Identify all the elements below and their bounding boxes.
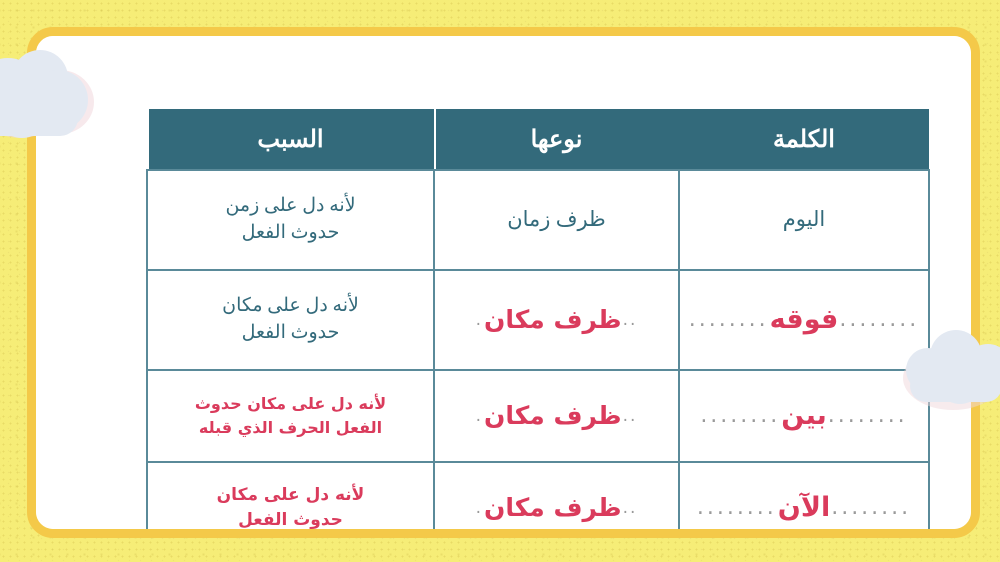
answer-reason-line: لأنه دل على مكان <box>154 483 427 509</box>
table-row: اليومظرف زمانلأنه دل على زمنحدوث الفعل <box>147 170 929 270</box>
column-header-reason: السبب <box>147 109 434 170</box>
given-word: اليوم <box>783 207 825 231</box>
given-reason-line: لأنه دل على زمن <box>154 193 427 220</box>
blank-dots-leading: ........ <box>831 492 911 523</box>
cell-reason: لأنه دل على مكانحدوث الفعل <box>147 270 434 370</box>
cell-reason: لأنه دل على مكان حدوثالفعل الحرف الذي قب… <box>147 370 434 462</box>
answer-type: ظرف مكان <box>484 490 622 526</box>
answer-type: ظرف مكان <box>484 302 622 338</box>
blank-dots-trailing: ........ <box>697 492 777 523</box>
given-reason-line: لأنه دل على مكان <box>154 293 427 320</box>
table-body: اليومظرف زمانلأنه دل على زمنحدوث الفعل..… <box>147 170 929 529</box>
content-card: الكلمة نوعها السبب اليومظرف زمانلأنه دل … <box>27 27 980 538</box>
table-row: ........فوقه..........ظرف مكان.لأنه دل ع… <box>147 270 929 370</box>
cell-type: ..ظرف مكان. <box>434 370 679 462</box>
column-header-type: نوعها <box>434 109 679 170</box>
answer-reason-line: لأنه دل على مكان حدوث <box>154 392 427 416</box>
blank-dots-leading: .. <box>623 404 638 428</box>
blank-dots-trailing: . <box>476 404 483 428</box>
answer-reason-line: حدوث الفعل <box>154 508 427 529</box>
blank-dots-trailing: . <box>476 308 483 332</box>
blank-dots-leading: ........ <box>828 400 908 431</box>
cell-word: ........فوقه........ <box>679 270 929 370</box>
cell-type: ..ظرف مكان. <box>434 270 679 370</box>
column-header-word: الكلمة <box>679 109 929 170</box>
cell-type: ظرف زمان <box>434 170 679 270</box>
blank-dots-leading: .. <box>623 308 638 332</box>
given-reason-line: حدوث الفعل <box>154 220 427 247</box>
blank-dots-trailing: ........ <box>700 400 780 431</box>
table-header-row: الكلمة نوعها السبب <box>147 109 929 170</box>
cell-word: ........بين........ <box>679 370 929 462</box>
table-row: ........الآن..........ظرف مكان.لأنه دل ع… <box>147 462 929 529</box>
given-reason-line: حدوث الفعل <box>154 320 427 347</box>
vocab-table: الكلمة نوعها السبب اليومظرف زمانلأنه دل … <box>146 109 930 529</box>
answer-type: ظرف مكان <box>484 398 622 434</box>
given-type: ظرف زمان <box>507 207 606 231</box>
blank-dots-trailing: ........ <box>689 304 769 335</box>
content-card-inner: الكلمة نوعها السبب اليومظرف زمانلأنه دل … <box>36 36 971 529</box>
vocab-table-container: الكلمة نوعها السبب اليومظرف زمانلأنه دل … <box>146 109 928 529</box>
blank-dots-leading: .. <box>623 496 638 520</box>
cell-reason: لأنه دل على مكانحدوث الفعل <box>147 462 434 529</box>
cell-reason: لأنه دل على زمنحدوث الفعل <box>147 170 434 270</box>
blank-dots-trailing: . <box>476 496 483 520</box>
answer-word: فوقه <box>770 301 839 339</box>
cell-type: ..ظرف مكان. <box>434 462 679 529</box>
cell-word: ........الآن........ <box>679 462 929 529</box>
answer-word: بين <box>781 397 826 435</box>
cell-word: اليوم <box>679 170 929 270</box>
table-row: ........بين..........ظرف مكان.لأنه دل عل… <box>147 370 929 462</box>
answer-word: الآن <box>778 489 830 527</box>
table-header: الكلمة نوعها السبب <box>147 109 929 170</box>
blank-dots-leading: ........ <box>839 304 919 335</box>
answer-reason-line: الفعل الحرف الذي قبله <box>154 416 427 440</box>
